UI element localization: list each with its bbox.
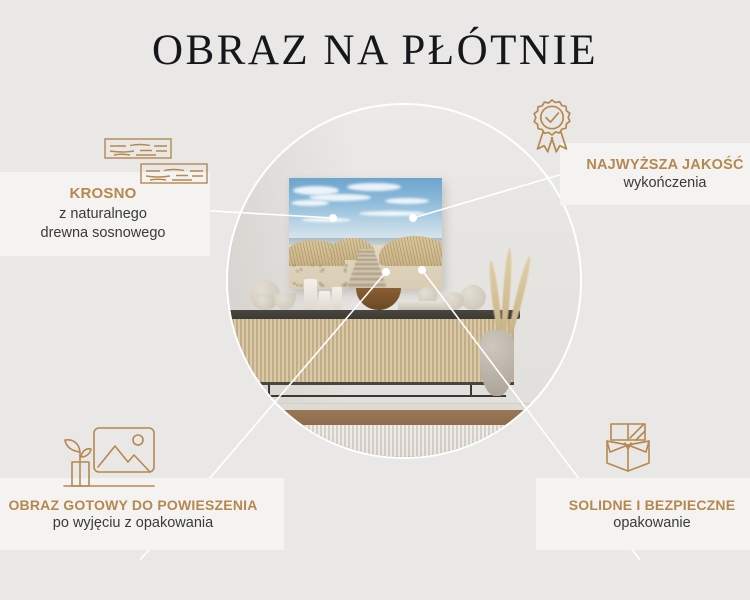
card-krosno-subline-2: drewna sosnowego — [22, 224, 184, 243]
card-gotowy-heading: OBRAZ GOTOWY DO POWIESZENIA — [0, 497, 266, 513]
card-gotowy-subline-1: po wyjęciu z opakowania — [0, 515, 266, 531]
card-jakosc-heading: NAJWYŻSZA JAKOŚĆ — [578, 157, 750, 173]
canvas-artwork — [289, 178, 442, 289]
pillar-candle — [319, 291, 330, 310]
baseboard — [228, 403, 580, 410]
pillar-candle — [332, 287, 342, 310]
rug — [228, 425, 580, 457]
card-krosno-subline-1: z naturalnego — [22, 205, 184, 224]
round-vase — [444, 292, 464, 310]
cloud — [359, 211, 425, 216]
cardboard-box-icon — [597, 419, 659, 481]
infographic-root: OBRAZ NA PŁÓTNIE — [0, 0, 750, 600]
sand-texture — [289, 260, 358, 289]
cloud — [385, 198, 429, 204]
pampas-vase — [480, 330, 514, 396]
cloud — [301, 218, 351, 222]
card-jakosc-subline-1: wykończenia — [578, 175, 750, 191]
stacked-books — [398, 301, 450, 310]
wood-planks-icon — [104, 137, 208, 189]
card-opakowanie-heading: SOLIDNE I BEZPIECZNE — [554, 497, 750, 513]
pillar-candle — [304, 279, 317, 310]
cloud — [347, 183, 401, 191]
card-opakowanie[interactable]: SOLIDNE I BEZPIECZNE opakowanie — [536, 478, 750, 550]
card-opakowanie-subline-1: opakowanie — [554, 515, 750, 531]
cloud — [291, 200, 329, 206]
sideboard-fluted-front — [228, 319, 514, 385]
card-jakosc[interactable]: NAJWYŻSZA JAKOŚĆ wykończenia — [560, 143, 750, 205]
sideboard-legs — [234, 385, 506, 397]
sideboard-top — [228, 310, 520, 319]
sideboard — [228, 310, 520, 396]
round-vase — [460, 285, 486, 310]
page-title: OBRAZ NA PŁÓTNIE — [0, 26, 750, 75]
framed-picture-plant-icon — [62, 424, 166, 490]
award-badge-icon — [524, 97, 580, 163]
